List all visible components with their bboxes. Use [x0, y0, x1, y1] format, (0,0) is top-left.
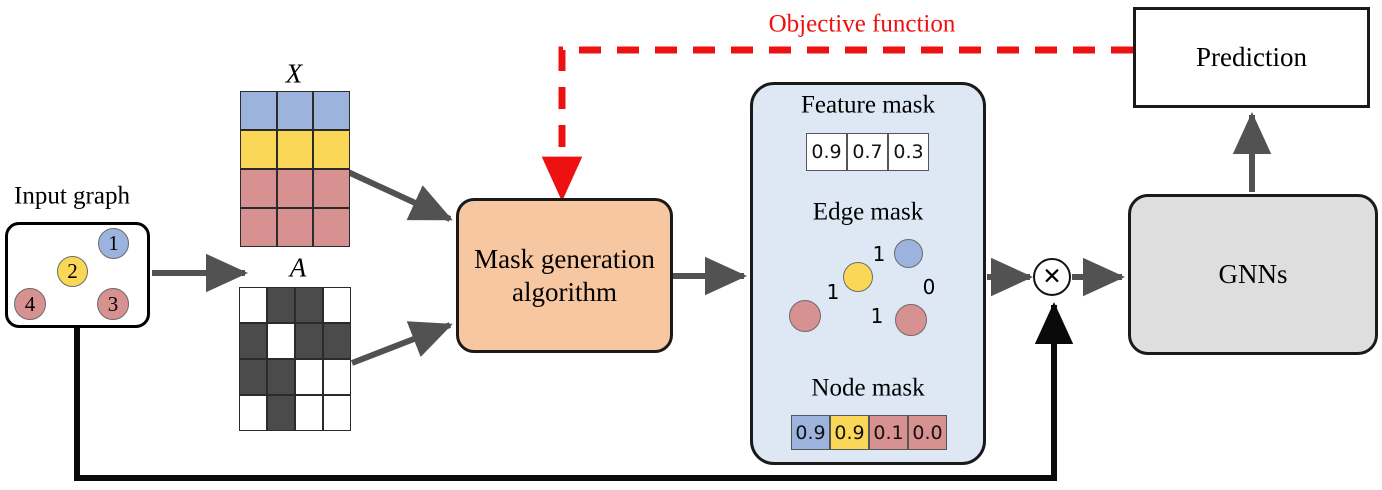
gnns-box[interactable]: GNNs: [1128, 194, 1378, 355]
diagram-canvas: Input graph 1 2 3 4 X A Mask generation …: [0, 0, 1382, 490]
adjacency-matrix-cell: [267, 395, 295, 431]
feature-mask-cell: 0.7: [847, 133, 888, 171]
edge-mask-node-pink-left[interactable]: [789, 300, 821, 332]
edge-weight-blue-pinkright: 0: [923, 275, 936, 299]
objective-function-label: Objective function: [769, 12, 956, 37]
feature-matrix-cell: [277, 91, 314, 130]
feature-matrix-cell: [313, 130, 350, 169]
edge-weight-yellow-pinkright: 1: [871, 304, 884, 328]
adjacency-matrix-cell: [295, 395, 323, 431]
node-mask-cell: 0.0: [908, 415, 947, 450]
node-mask-strip[interactable]: 0.90.90.10.0: [791, 415, 947, 450]
prediction-box[interactable]: Prediction: [1133, 7, 1370, 108]
feature-mask-title: Feature mask: [801, 93, 935, 118]
feature-matrix-cell: [277, 208, 314, 247]
input-graph-node-2[interactable]: 2: [57, 256, 88, 287]
feature-matrix-cell: [240, 169, 277, 208]
feature-matrix-cell: [277, 130, 314, 169]
mask-generation-box[interactable]: Mask generation algorithm: [456, 198, 673, 353]
feature-mask-strip[interactable]: 0.90.70.3: [806, 133, 929, 171]
edge-mask-node-pink-right[interactable]: [895, 304, 927, 336]
adjacency-matrix[interactable]: [239, 287, 351, 431]
adjacency-matrix-cell: [323, 359, 351, 395]
mask-generation-line1: Mask generation: [474, 243, 655, 276]
feature-matrix-cell: [313, 91, 350, 130]
edge-weight-yellow-blue: 1: [873, 242, 886, 266]
input-graph-node-4[interactable]: 4: [14, 288, 46, 320]
edge-mask-title: Edge mask: [813, 200, 923, 225]
feature-matrix[interactable]: [240, 91, 350, 247]
adjacency-matrix-cell: [239, 359, 267, 395]
edge-mask-node-blue[interactable]: [894, 239, 923, 268]
adjacency-matrix-cell: [239, 323, 267, 359]
adjacency-matrix-cell: [239, 287, 267, 323]
mask-generation-line2: algorithm: [474, 276, 655, 309]
adjacency-matrix-cell: [267, 359, 295, 395]
adjacency-matrix-cell: [267, 287, 295, 323]
feature-matrix-cell: [313, 208, 350, 247]
feature-matrix-cell: [277, 169, 314, 208]
feature-matrix-cell: [313, 169, 350, 208]
feature-matrix-cell: [240, 91, 277, 130]
input-graph-node-3[interactable]: 3: [97, 288, 129, 320]
arrow-A-to-maskgen: [352, 325, 450, 363]
input-graph-label: Input graph: [14, 184, 130, 209]
feature-mask-cell: 0.3: [888, 133, 929, 171]
adjacency-matrix-title: A: [290, 255, 307, 282]
adjacency-matrix-cell: [323, 323, 351, 359]
adjacency-matrix-cell: [323, 395, 351, 431]
node-mask-cell: 0.9: [791, 415, 830, 450]
node-mask-cell: 0.9: [830, 415, 869, 450]
feature-matrix-cell: [240, 208, 277, 247]
feature-mask-cell: 0.9: [806, 133, 847, 171]
input-graph-node-1[interactable]: 1: [98, 228, 129, 259]
multiply-icon[interactable]: ✕: [1033, 258, 1071, 296]
node-mask-cell: 0.1: [869, 415, 908, 450]
adjacency-matrix-cell: [295, 359, 323, 395]
arrow-X-to-maskgen: [348, 172, 450, 219]
edge-weight-pinkleft-yellow: 1: [827, 280, 840, 304]
feature-matrix-cell: [240, 130, 277, 169]
adjacency-matrix-cell: [323, 287, 351, 323]
adjacency-matrix-cell: [295, 287, 323, 323]
adjacency-matrix-cell: [239, 395, 267, 431]
feature-matrix-title: X: [286, 61, 303, 88]
adjacency-matrix-cell: [295, 323, 323, 359]
edge-mask-node-yellow[interactable]: [843, 262, 873, 292]
adjacency-matrix-cell: [267, 323, 295, 359]
node-mask-title: Node mask: [811, 376, 924, 401]
